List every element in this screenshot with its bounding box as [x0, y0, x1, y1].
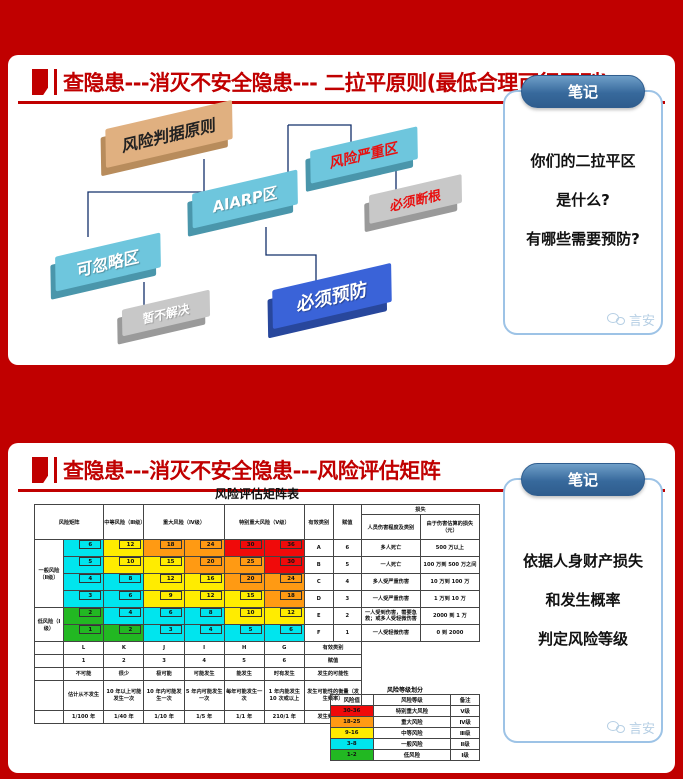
matrix-row-loss: 10 万到 100 万 — [420, 574, 479, 591]
matrix-row-harm: 一人受到伤害，需要急救；或多人受轻微伤害 — [362, 608, 421, 625]
matrix-row-loss: 500 万以上 — [420, 540, 479, 557]
risk-legend-container: 风险等级划分 风险值风险等级备注30-36特别重大风险Ⅴ级18-25重大风险Ⅳ级… — [330, 685, 480, 761]
legend-note: Ⅳ级 — [451, 717, 480, 728]
legend-level: 低风险 — [373, 750, 451, 761]
matrix-x-value: 3 — [144, 655, 184, 668]
matrix-loss-col-label: 由于伤害估算的损失（元） — [420, 515, 479, 540]
watermark-label: 言安 — [629, 718, 655, 737]
matrix-x-value: 2 — [104, 655, 144, 668]
matrix-x-detail: 每年可能发生一次 — [224, 681, 264, 711]
matrix-row-code: C — [305, 574, 333, 591]
matrix-cell[interactable]: 36 — [264, 540, 304, 557]
matrix-row-code: A — [305, 540, 333, 557]
matrix-row-harm: 一人受轻微伤害 — [362, 625, 421, 642]
matrix-x-detail: 10 年以上可能发生一次 — [104, 681, 144, 711]
matrix-row-code: F — [305, 625, 333, 642]
matrix-x-value: 6 — [264, 655, 304, 668]
matrix-x-rate: 1/10 年 — [144, 711, 184, 724]
matrix-row[interactable]: 51015202530B5一人死亡100 万到 500 万之间 — [35, 557, 480, 574]
flag-icon — [32, 69, 48, 95]
matrix-cell[interactable]: 1 — [63, 625, 103, 642]
notes-panel-slide2: 笔记 依据人身财产损失 和发生概率 判定风险等级 言安 — [503, 478, 663, 743]
matrix-x-category: L — [63, 642, 103, 655]
matrix-x-category: I — [184, 642, 224, 655]
flag-icon — [32, 457, 48, 483]
notes-body: 依据人身财产损失 和发生概率 判定风险等级 — [505, 550, 661, 649]
matrix-x-category: H — [224, 642, 264, 655]
matrix-band-label: 中等风险（Ⅲ级） — [104, 505, 144, 540]
matrix-row-value: 2 — [333, 608, 361, 625]
notes-panel-slide1: 笔记 你们的二拉平区 是什么? 有哪些需要预防? 言安 — [503, 90, 663, 335]
matrix-cell[interactable]: 6 — [144, 608, 184, 625]
matrix-effective-category-label: 有效类别 — [305, 505, 333, 540]
matrix-loss-group-label: 损失 — [362, 505, 480, 515]
matrix-cell[interactable]: 20 — [224, 574, 264, 591]
matrix-cell[interactable]: 4 — [104, 608, 144, 625]
matrix-axis-spacer — [35, 655, 64, 668]
legend-note: Ⅴ级 — [451, 706, 480, 717]
matrix-row-value: 3 — [333, 591, 361, 608]
matrix-header-row: 风险矩阵中等风险（Ⅲ级）重大风险（Ⅳ级）特别重大风险（Ⅴ级）有效类别赋值损失 — [35, 505, 480, 515]
legend-row[interactable]: 3-8一般风险Ⅱ级 — [331, 739, 480, 750]
matrix-x-rate: 1/100 年 — [63, 711, 103, 724]
notes-line: 和发生概率 — [545, 589, 620, 610]
matrix-cell[interactable]: 3 — [63, 591, 103, 608]
notes-line: 依据人身财产损失 — [523, 550, 643, 571]
matrix-x-likelihood: 很少 — [104, 668, 144, 681]
matrix-cell[interactable]: 4 — [63, 574, 103, 591]
matrix-cell[interactable]: 5 — [63, 557, 103, 574]
legend-level: 一般风险 — [373, 739, 451, 750]
matrix-row[interactable]: 4812162024C4多人受严重伤害10 万到 100 万 — [35, 574, 480, 591]
matrix-row-value: 5 — [333, 557, 361, 574]
matrix-cell[interactable]: 24 — [264, 574, 304, 591]
notes-line: 有哪些需要预防? — [526, 228, 640, 249]
matrix-axis-spacer — [35, 668, 64, 681]
matrix-cell[interactable]: 10 — [224, 608, 264, 625]
matrix-row-loss: 1 万到 10 万 — [420, 591, 479, 608]
matrix-row-harm: 一人死亡 — [362, 557, 421, 574]
matrix-cell[interactable]: 3 — [144, 625, 184, 642]
legend-row[interactable]: 1-2低风险Ⅰ级 — [331, 750, 480, 761]
matrix-row-harm: 多人死亡 — [362, 540, 421, 557]
matrix-cell[interactable]: 15 — [224, 591, 264, 608]
matrix-x-detail: 10 年内可能发生一次 — [144, 681, 184, 711]
matrix-band-label: 重大风险（Ⅳ级） — [144, 505, 224, 540]
legend-level: 重大风险 — [373, 717, 451, 728]
watermark: 言安 — [607, 718, 655, 737]
matrix-cell[interactable]: 8 — [104, 574, 144, 591]
matrix-cell[interactable]: 25 — [224, 557, 264, 574]
matrix-cell[interactable]: 18 — [144, 540, 184, 557]
legend-note: Ⅲ级 — [451, 728, 480, 739]
matrix-axis-header: 发生的可能性 — [305, 668, 362, 681]
legend-header-row: 风险值风险等级备注 — [331, 695, 480, 706]
matrix-cell[interactable]: 2 — [104, 625, 144, 642]
matrix-loss-col-label: 人员伤害程度及类别 — [362, 515, 421, 540]
matrix-cell[interactable]: 30 — [264, 557, 304, 574]
matrix-x-rate: 1/5 年 — [184, 711, 224, 724]
legend-note: Ⅱ级 — [451, 739, 480, 750]
matrix-axis-spacer — [35, 642, 64, 655]
matrix-row-value: 4 — [333, 574, 361, 591]
watermark-label: 言安 — [629, 310, 655, 329]
matrix-x-category: K — [104, 642, 144, 655]
risk-legend-table[interactable]: 风险值风险等级备注30-36特别重大风险Ⅴ级18-25重大风险Ⅳ级9-16中等风… — [330, 694, 480, 761]
matrix-x-value: 4 — [184, 655, 224, 668]
matrix-x-likelihood: 不可能 — [63, 668, 103, 681]
matrix-cell[interactable]: 2 — [63, 608, 103, 625]
matrix-row-harm: 多人受严重伤害 — [362, 574, 421, 591]
matrix-cell[interactable]: 6 — [104, 591, 144, 608]
matrix-cell[interactable]: 16 — [184, 574, 224, 591]
legend-title: 风险等级划分 — [330, 685, 480, 694]
matrix-cell[interactable]: 12 — [104, 540, 144, 557]
wechat-icon — [607, 313, 627, 327]
notes-badge: 笔记 — [521, 463, 645, 496]
matrix-band-label: 特别重大风险（Ⅴ级） — [224, 505, 304, 540]
notes-body: 你们的二拉平区 是什么? 有哪些需要预防? — [505, 150, 661, 249]
matrix-cell[interactable]: 8 — [184, 608, 224, 625]
matrix-row-code: D — [305, 591, 333, 608]
watermark: 言安 — [607, 310, 655, 329]
matrix-row-code: E — [305, 608, 333, 625]
legend-range: 1-2 — [331, 750, 374, 761]
matrix-row-value: 1 — [333, 625, 361, 642]
matrix-axis-header: 赋值 — [305, 655, 362, 668]
notes-badge: 笔记 — [521, 75, 645, 108]
matrix-x-rate: 1/40 年 — [104, 711, 144, 724]
legend-range: 3-8 — [331, 739, 374, 750]
matrix-assigned-value-label: 赋值 — [333, 505, 361, 540]
matrix-x-category: G — [264, 642, 304, 655]
matrix-x-detail: 5 年内可能发生一次 — [184, 681, 224, 711]
slide-risk-matrix: 查隐患---消灭不安全隐患---风险评估矩阵 风险评估矩阵表 风险矩阵中等风险（… — [8, 443, 675, 773]
legend-range: 18-25 — [331, 717, 374, 728]
legend-note: Ⅰ级 — [451, 750, 480, 761]
title-divider — [54, 69, 57, 95]
matrix-row[interactable]: 369121518D3一人受严重伤害1 万到 10 万 — [35, 591, 480, 608]
matrix-cell[interactable]: 10 — [104, 557, 144, 574]
matrix-caption: 风险评估矩阵表 — [34, 485, 480, 502]
matrix-x-rate: 210/1 年 — [264, 711, 304, 724]
matrix-x-likelihood: 可能发生 — [184, 668, 224, 681]
matrix-row-loss: 2000 到 1 万 — [420, 608, 479, 625]
legend-range: 9-16 — [331, 728, 374, 739]
matrix-axis-spacer — [35, 681, 64, 711]
matrix-cell[interactable]: 15 — [144, 557, 184, 574]
notes-line: 是什么? — [556, 189, 610, 210]
matrix-axis-header: 有效类别 — [305, 642, 362, 655]
legend-row[interactable]: 18-25重大风险Ⅳ级 — [331, 717, 480, 728]
matrix-cell[interactable]: 12 — [144, 574, 184, 591]
matrix-row[interactable]: 低风险（Ⅰ级）24681012E2一人受到伤害，需要急救；或多人受轻微伤害200… — [35, 608, 480, 625]
matrix-cell[interactable]: 12 — [184, 591, 224, 608]
legend-header-cell: 风险等级 — [373, 695, 451, 706]
matrix-x-likelihood: 能发生 — [224, 668, 264, 681]
risk-criteria-diagram: 风险判据原则 AIARP区 风险严重区 必须断根 可忽略区 暂不解决 必须预防 — [26, 97, 476, 352]
matrix-row[interactable]: 123456F1一人受轻微伤害0 到 2000 — [35, 625, 480, 642]
matrix-row-loss: 100 万到 500 万之间 — [420, 557, 479, 574]
matrix-x-detail: 估计从不发生 — [63, 681, 103, 711]
matrix-x-detail: 1 年内能发生 10 次或以上 — [264, 681, 304, 711]
matrix-rowgroup-label: 低风险（Ⅰ级） — [35, 608, 64, 642]
matrix-rowgroup-label: 一般风险（Ⅱ级） — [35, 540, 64, 608]
wechat-icon — [607, 721, 627, 735]
matrix-cell[interactable]: 12 — [264, 608, 304, 625]
matrix-cell[interactable]: 24 — [184, 540, 224, 557]
matrix-cell[interactable]: 18 — [264, 591, 304, 608]
page-title: 查隐患---消灭不安全隐患---风险评估矩阵 — [63, 455, 440, 485]
matrix-cell[interactable]: 9 — [144, 591, 184, 608]
legend-row[interactable]: 9-16中等风险Ⅲ级 — [331, 728, 480, 739]
matrix-x-value: 1 — [63, 655, 103, 668]
matrix-axis-row: LKJIHG有效类别 — [35, 642, 480, 655]
matrix-axis-spacer — [35, 711, 64, 724]
legend-row[interactable]: 30-36特别重大风险Ⅴ级 — [331, 706, 480, 717]
matrix-cell[interactable]: 4 — [184, 625, 224, 642]
matrix-cell[interactable]: 20 — [184, 557, 224, 574]
legend-range: 30-36 — [331, 706, 374, 717]
matrix-row[interactable]: 一般风险（Ⅱ级）61218243036A6多人死亡500 万以上 — [35, 540, 480, 557]
matrix-corner-label: 风险矩阵 — [35, 505, 104, 540]
matrix-cell[interactable]: 5 — [224, 625, 264, 642]
matrix-cell[interactable]: 30 — [224, 540, 264, 557]
matrix-x-likelihood: 时有发生 — [264, 668, 304, 681]
matrix-x-likelihood: 极可能 — [144, 668, 184, 681]
matrix-cell[interactable]: 6 — [264, 625, 304, 642]
matrix-x-category: J — [144, 642, 184, 655]
matrix-row-code: B — [305, 557, 333, 574]
matrix-row-harm: 一人受严重伤害 — [362, 591, 421, 608]
title-divider — [54, 457, 57, 483]
matrix-cell[interactable]: 6 — [63, 540, 103, 557]
notes-line: 判定风险等级 — [538, 628, 628, 649]
slide-risk-criteria: 查隐患---消灭不安全隐患--- 二拉平原则(最低合理可行原则) 风险判据原则 … — [8, 55, 675, 365]
legend-level: 中等风险 — [373, 728, 451, 739]
matrix-row-value: 6 — [333, 540, 361, 557]
matrix-x-value: 5 — [224, 655, 264, 668]
matrix-row-loss: 0 到 2000 — [420, 625, 479, 642]
legend-level: 特别重大风险 — [373, 706, 451, 717]
legend-header-cell: 风险值 — [331, 695, 374, 706]
matrix-x-rate: 1/1 年 — [224, 711, 264, 724]
notes-line: 你们的二拉平区 — [530, 150, 635, 171]
legend-header-cell: 备注 — [451, 695, 480, 706]
